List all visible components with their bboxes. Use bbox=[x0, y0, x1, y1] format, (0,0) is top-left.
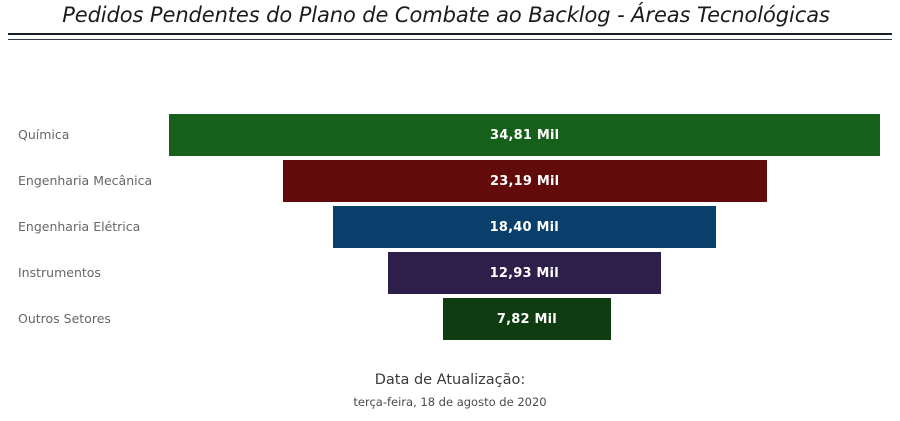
funnel-bar-quimica[interactable]: 34,81 Mil bbox=[169, 114, 880, 156]
funnel-chart: Química 34,81 Mil Engenharia Mecânica 23… bbox=[0, 112, 900, 344]
funnel-chart-page: { "chart_data": { "type": "bar", "subtyp… bbox=[0, 0, 900, 421]
funnel-row: Engenharia Elétrica 18,40 Mil bbox=[0, 204, 900, 250]
funnel-bar-engenharia-mecanica[interactable]: 23,19 Mil bbox=[283, 160, 767, 202]
category-label-outros-setores: Outros Setores bbox=[18, 296, 111, 342]
category-label-instrumentos: Instrumentos bbox=[18, 250, 101, 296]
update-label: Data de Atualização: bbox=[0, 370, 900, 390]
funnel-bar-outros-setores[interactable]: 7,82 Mil bbox=[443, 298, 611, 340]
funnel-row: Química 34,81 Mil bbox=[0, 112, 900, 158]
bar-value-label: 23,19 Mil bbox=[490, 174, 559, 189]
bar-value-label: 34,81 Mil bbox=[490, 128, 559, 143]
category-label-quimica: Química bbox=[18, 112, 69, 158]
funnel-row: Instrumentos 12,93 Mil bbox=[0, 250, 900, 296]
footer: Data de Atualização: terça-feira, 18 de … bbox=[0, 370, 900, 411]
funnel-bar-instrumentos[interactable]: 12,93 Mil bbox=[388, 252, 661, 294]
category-label-engenharia-mecanica: Engenharia Mecânica bbox=[18, 158, 152, 204]
update-date: terça-feira, 18 de agosto de 2020 bbox=[0, 393, 900, 411]
category-label-engenharia-eletrica: Engenharia Elétrica bbox=[18, 204, 140, 250]
page-title: Pedidos Pendentes do Plano de Combate ao… bbox=[0, 3, 892, 27]
title-block: Pedidos Pendentes do Plano de Combate ao… bbox=[0, 0, 900, 44]
funnel-row: Engenharia Mecânica 23,19 Mil bbox=[0, 158, 900, 204]
funnel-row: Outros Setores 7,82 Mil bbox=[0, 296, 900, 342]
funnel-bar-engenharia-eletrica[interactable]: 18,40 Mil bbox=[333, 206, 716, 248]
bar-value-label: 12,93 Mil bbox=[490, 266, 559, 281]
bar-value-label: 18,40 Mil bbox=[490, 220, 559, 235]
title-divider bbox=[8, 33, 892, 40]
bar-value-label: 7,82 Mil bbox=[497, 312, 557, 327]
